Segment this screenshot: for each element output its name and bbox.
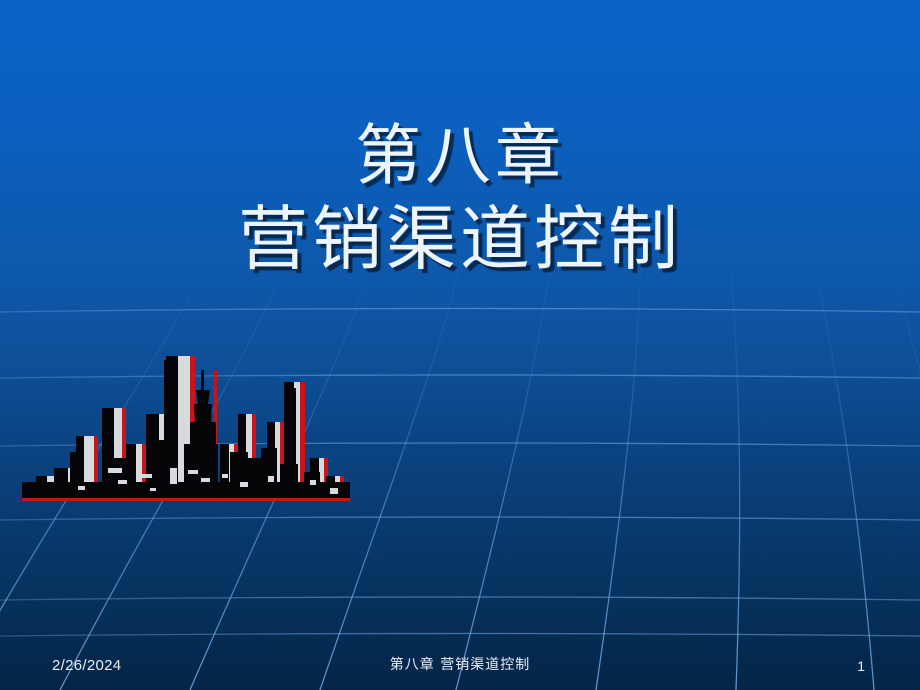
skyline-baseline: [22, 498, 350, 501]
city-skyline-icon: [18, 348, 354, 504]
footer-title: 第八章 营销渠道控制: [0, 654, 920, 674]
title-line-1: 第八章: [0, 122, 920, 191]
globe-grid-background: [0, 0, 920, 690]
title-line-2: 营销渠道控制: [0, 203, 920, 276]
page-title: 第八章 营销渠道控制: [0, 122, 920, 275]
footer-page-number: 1: [857, 658, 865, 674]
slide-footer: 2/26/2024 第八章 营销渠道控制 1: [0, 636, 920, 690]
presentation-slide: 第八章 营销渠道控制: [0, 0, 920, 690]
